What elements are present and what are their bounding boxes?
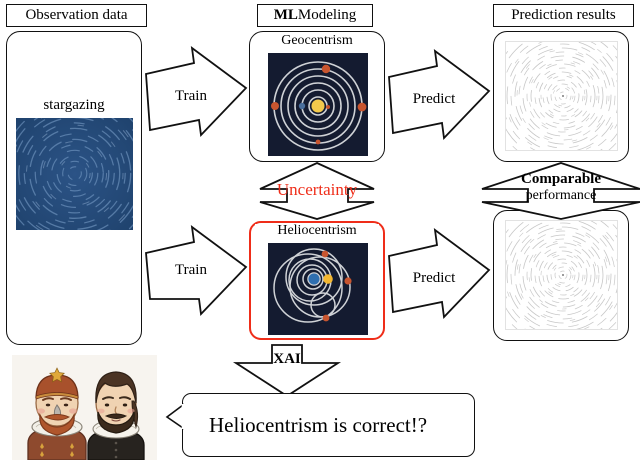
star-trail-streaks [16,118,133,230]
stargazing-label-text: stargazing [43,97,104,113]
header-prediction-label: Prediction results [511,8,616,23]
header-prediction-results: Prediction results [493,4,634,27]
predict-label-top: Predict [396,92,472,108]
heliocentrism-label: Heliocentrism [255,224,379,238]
speech-bubble: Heliocentrism is correct!? [182,393,475,457]
speech-bubble-tail [167,405,183,428]
stargazing-caption: stargazing [6,97,142,114]
predict-bottom-text: Predict [413,270,456,286]
uncertainty-label: Uncertainty [241,181,393,199]
speech-bubble-text: Heliocentrism is correct!? [183,413,427,438]
header-ml-bold: ML [274,8,298,23]
comparable-rest-text: performance [526,188,597,203]
train-label-bottom: Train [156,263,226,279]
uncertainty-text: Uncertainty [277,180,357,199]
comparable-bold-text: Comparable [521,171,601,187]
scientists-illustration [12,355,157,460]
geocentrism-orbit-diagram [268,53,368,156]
geocentric-orbits [268,53,368,156]
xai-label: XAI [252,352,322,368]
geocentrism-label-text: Geocentrism [281,33,353,48]
heliocentric-orbits [268,243,368,335]
train-label-top: Train [156,89,226,105]
heliocentrism-orbit-diagram [268,243,368,335]
header-observation-data: Observation data [6,4,147,27]
train-top-text: Train [175,88,207,104]
header-ml-rest: Modeling [298,8,356,23]
star-trail-photo [16,118,133,230]
predict-label-bottom: Predict [396,271,472,287]
prediction-image-geocentric [505,41,618,151]
xai-text: XAI [273,351,301,367]
prediction-image-heliocentric [505,220,618,330]
prediction-streaks-top [506,42,618,151]
geocentrism-label: Geocentrism [258,34,376,48]
tycho-kepler-portrait [12,355,157,460]
prediction-streaks-bottom [506,221,618,330]
predict-top-text: Predict [413,91,456,107]
comparable-performance-label: Comparable performance [497,172,625,204]
header-ml-modeling: ML Modeling [257,4,373,27]
diagram-canvas: Observation data ML Modeling Prediction … [0,0,640,467]
train-bottom-text: Train [175,262,207,278]
header-observation-label: Observation data [25,8,127,23]
heliocentrism-label-text: Heliocentrism [277,223,356,238]
